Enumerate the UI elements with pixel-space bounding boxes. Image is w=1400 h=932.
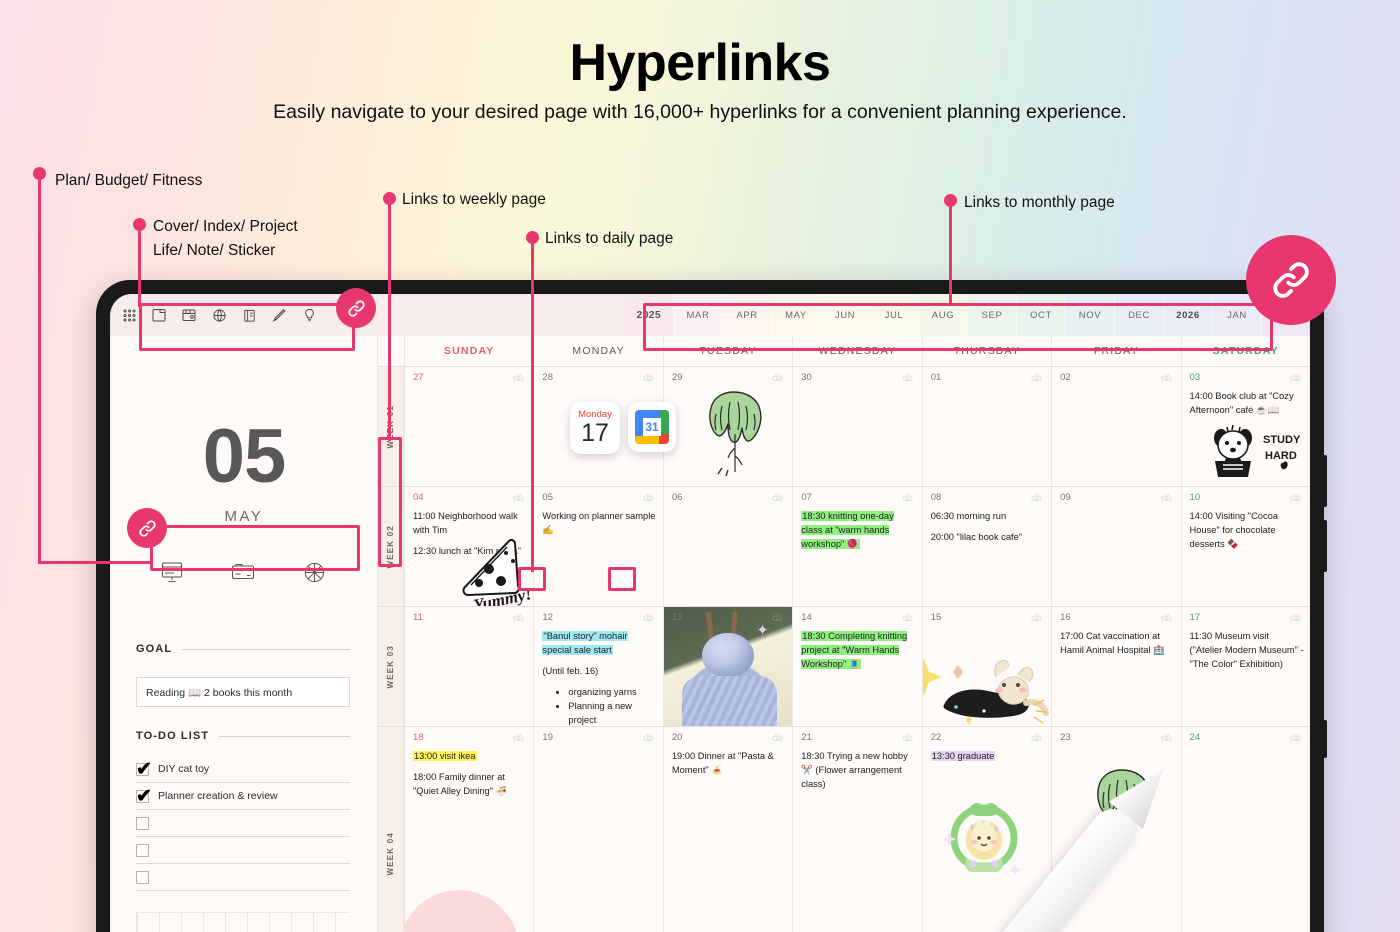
cloud-link-icon	[1289, 371, 1303, 385]
daily-page-link-icon[interactable]	[1289, 491, 1303, 505]
daily-page-link-icon[interactable]	[771, 731, 785, 745]
tablet-device: 2025 MARAPRMAYJUNJULAUGSEPOCTNOVDEC2026J…	[96, 280, 1324, 932]
monthly-calendar: SUNDAYMONDAYTUESDAYWEDNESDAYTHURSDAYFRID…	[378, 336, 1310, 932]
daily-page-link-icon[interactable]	[642, 731, 656, 745]
cloud-link-icon	[1289, 731, 1303, 745]
calendar-day-cell[interactable]: 12"Banul story" mohair special sale star…	[533, 607, 662, 726]
goal-rule	[182, 649, 350, 650]
day-number: 14	[801, 612, 812, 623]
calendar-day-cell[interactable]: 01	[922, 367, 1051, 486]
willow-tree-icon	[692, 384, 778, 476]
cloud-link-icon	[512, 491, 526, 505]
daily-page-link-icon[interactable]	[1289, 371, 1303, 385]
calendar-day-cell[interactable]: 2118:30 Trying a new hobby ✂️ (Flower ar…	[792, 727, 921, 932]
event-text: 17:00 Cat vaccination at Hamil Animal Ho…	[1060, 629, 1174, 657]
todo-row[interactable]: ✔DIY cat toy	[136, 756, 350, 783]
event-text: 13:30 graduate	[931, 749, 1045, 763]
calendar-day-cell[interactable]: 1418:30 Completing knitting project at "…	[792, 607, 921, 726]
day-events: 17:00 Cat vaccination at Hamil Animal Ho…	[1060, 629, 1174, 664]
todo-list: ✔DIY cat toy✔Planner creation & review	[136, 756, 350, 891]
cloud-link-icon	[771, 491, 785, 505]
sleeping-cats-icon	[922, 645, 1051, 725]
event-text: Working on planner sample ✍️	[542, 509, 656, 537]
todo-row[interactable]	[136, 837, 350, 864]
daily-page-link-icon[interactable]	[512, 491, 526, 505]
volume-button-up[interactable]	[1323, 455, 1327, 507]
apple-calendar-icon[interactable]: Monday 17	[570, 402, 620, 454]
calendar-week-row: WEEK 041813:00 visit ikea18:00 Family di…	[378, 726, 1310, 932]
daily-page-link-icon[interactable]	[1160, 731, 1174, 745]
event-text: 06:30 morning run	[931, 509, 1045, 523]
daily-page-link-icon[interactable]	[512, 611, 526, 625]
day-number: 09	[1060, 492, 1071, 503]
todo-checkbox[interactable]	[136, 817, 149, 830]
event-text: 18:00 Family dinner at "Quiet Alley Dini…	[413, 770, 527, 798]
day-events: 18:30 Completing knitting project at "Wa…	[801, 629, 915, 678]
cloud-link-icon	[1030, 731, 1044, 745]
cloud-link-icon	[642, 611, 656, 625]
cloud-link-icon	[1030, 611, 1044, 625]
goal-heading: GOAL	[136, 643, 350, 655]
event-bullet-list: organizing yarnsPlanning a new project	[568, 685, 656, 726]
highlight-box-month-nav	[643, 303, 1273, 351]
svg-text:HARD: HARD	[1265, 450, 1297, 462]
day-number: 20	[672, 732, 683, 743]
volume-button-down[interactable]	[1323, 520, 1327, 572]
annotation-line-plan-budget-fitness-v	[38, 178, 41, 563]
day-number: 05	[542, 492, 553, 503]
dog-reading-icon: STUDYHARD	[1207, 421, 1307, 483]
event-text: (Until feb. 16)	[542, 664, 656, 678]
day-number: 04	[413, 492, 424, 503]
day-events: 13:30 graduate	[931, 749, 1045, 770]
dog-study-hard-sticker: STUDYHARD	[1207, 421, 1307, 486]
daily-page-link-icon[interactable]	[1160, 371, 1174, 385]
event-highlight: 18:30 Completing knitting project at "Wa…	[801, 631, 907, 669]
cloud-link-icon	[642, 371, 656, 385]
event-text: 19:00 Dinner at "Pasta & Moment" 🍝	[672, 749, 786, 777]
power-button[interactable]	[1323, 720, 1327, 758]
todo-row[interactable]	[136, 810, 350, 837]
daily-page-link-icon[interactable]	[642, 611, 656, 625]
google-calendar-icon[interactable]: 31	[628, 402, 676, 452]
cloud-link-icon	[1160, 491, 1174, 505]
calendar-day-cell[interactable]: 06	[663, 487, 792, 606]
calendar-day-cell[interactable]: 24	[1181, 727, 1310, 932]
daily-page-link-icon[interactable]	[771, 371, 785, 385]
day-number: 10	[1190, 492, 1201, 503]
poster-canvas: Hyperlinks Easily navigate to your desir…	[0, 0, 1400, 932]
daily-page-link-icon[interactable]	[512, 371, 526, 385]
calendar-day-cell[interactable]: 19	[533, 727, 662, 932]
week-label-text: WEEK 04	[386, 832, 395, 876]
daily-page-link-icon[interactable]	[901, 731, 915, 745]
goal-input[interactable]: Reading 📖 2 books this month	[136, 677, 350, 707]
daily-page-link-icon[interactable]	[771, 491, 785, 505]
week-label-text: WEEK 03	[386, 645, 395, 689]
day-events: 11:30 Museum visit ("Atelier Modern Muse…	[1190, 629, 1304, 678]
annotation-label-life-note-sticker: Life/ Note/ Sticker	[153, 240, 275, 262]
sparkle-icon: ✦	[756, 621, 769, 639]
day-number: 28	[542, 372, 553, 383]
chain-link-icon	[137, 518, 158, 539]
day-number: 03	[1190, 372, 1201, 383]
calendar-day-cell[interactable]: 09	[1051, 487, 1180, 606]
day-events: 14:00 Visiting "Cocoa House" for chocola…	[1190, 509, 1304, 558]
calendar-day-cell[interactable]: 11	[404, 607, 533, 726]
calendar-day-cell[interactable]: 30	[792, 367, 921, 486]
calendar-week-row: WEEK 012728293001020314:00 Book club at …	[378, 366, 1310, 486]
day-number: 16	[1060, 612, 1071, 623]
calendar-day-cell[interactable]: 15	[922, 607, 1051, 726]
day-number: 13	[672, 612, 683, 623]
cloud-link-icon	[642, 731, 656, 745]
annotation-line-links-weekly	[388, 203, 391, 441]
todo-row[interactable]: ✔Planner creation & review	[136, 783, 350, 810]
link-badge-large	[1246, 235, 1336, 325]
daily-page-link-icon[interactable]	[642, 371, 656, 385]
todo-heading-text: TO-DO LIST	[136, 730, 209, 742]
calendar-day-cell[interactable]: 1014:00 Visiting "Cocoa House" for choco…	[1181, 487, 1310, 606]
annotation-dot-plan-budget-fitness	[33, 167, 46, 180]
cloud-link-icon	[771, 611, 785, 625]
annotation-dot-cover-index-project	[133, 218, 146, 231]
cloud-link-icon	[512, 371, 526, 385]
todo-checkbox[interactable]: ✔	[136, 790, 149, 803]
annotation-label-links-weekly: Links to weekly page	[402, 189, 546, 211]
google-calendar-date: 31	[643, 418, 661, 436]
event-text: 11:00 Neighborhood walk with Tim	[413, 509, 527, 537]
page-subtitle: Easily navigate to your desired page wit…	[0, 101, 1400, 124]
week-link-3[interactable]: WEEK 03	[378, 607, 404, 726]
cloud-link-icon	[901, 611, 915, 625]
daily-page-link-icon[interactable]	[1030, 611, 1044, 625]
event-text: 13:00 visit ikea	[413, 749, 527, 763]
tablet-screen: 2025 MARAPRMAYJUNJULAUGSEPOCTNOVDEC2026J…	[110, 294, 1310, 932]
event-text: 18:30 Completing knitting project at "Wa…	[801, 629, 915, 671]
daily-page-link-icon[interactable]	[771, 611, 785, 625]
cloud-link-icon	[901, 731, 915, 745]
event-highlight: "Banul story" mohair special sale start	[542, 631, 627, 655]
day-number: 27	[413, 372, 424, 383]
calendar-day-cell[interactable]: 27	[404, 367, 533, 486]
checkmark-icon: ✔	[136, 787, 152, 806]
knitted-fabric	[682, 676, 777, 726]
event-bullet: organizing yarns	[568, 685, 656, 699]
page-title: Hyperlinks	[0, 33, 1400, 93]
cloud-link-icon	[1160, 611, 1174, 625]
event-highlight: 18:30 knitting one-day class at "warm ha…	[801, 511, 894, 549]
event-bullet: Planning a new project	[568, 699, 656, 726]
event-text: 20:00 "lilac book cafe"	[931, 530, 1045, 544]
cloud-link-icon	[1160, 731, 1174, 745]
day-number: 21	[801, 732, 812, 743]
day-number: 23	[1060, 732, 1071, 743]
cats-sticker	[922, 645, 1051, 726]
calendar-day-cell[interactable]: 0718:30 knitting one-day class at "warm …	[792, 487, 921, 606]
day-number: 29	[672, 372, 683, 383]
google-calendar-tile: 31	[635, 410, 669, 444]
annotation-line-links-monthly	[949, 205, 952, 305]
daily-page-link-icon[interactable]	[901, 611, 915, 625]
annotation-dot-links-daily	[526, 231, 539, 244]
event-text: 12:30 lunch at "Kim pizza"	[413, 544, 527, 558]
cloud-link-icon	[771, 731, 785, 745]
monthly-side-panel: 05 MAY	[110, 336, 378, 932]
day-events: 18:30 knitting one-day class at "warm ha…	[801, 509, 915, 558]
calendar-day-cell[interactable]: 0314:00 Book club at "Cozy Afternoon" ca…	[1181, 367, 1310, 486]
cloud-link-icon	[901, 491, 915, 505]
calendar-day-cell[interactable]: ✦13	[663, 607, 792, 726]
day-number: 17	[1190, 612, 1201, 623]
cloud-link-icon	[1030, 491, 1044, 505]
checkmark-icon: ✔	[136, 760, 152, 779]
day-number: 02	[1060, 372, 1071, 383]
highlight-box-toolbar	[139, 303, 355, 351]
calendar-day-cell[interactable]: 02	[1051, 367, 1180, 486]
day-events: 18:30 Trying a new hobby ✂️ (Flower arra…	[801, 749, 915, 798]
daily-page-link-icon[interactable]	[642, 491, 656, 505]
day-number: 19	[542, 732, 553, 743]
calendar-day-cell[interactable]: 1711:30 Museum visit ("Atelier Modern Mu…	[1181, 607, 1310, 726]
daily-page-link-icon[interactable]	[1160, 611, 1174, 625]
todo-label: DIY cat toy	[158, 763, 209, 775]
yarn-ball	[702, 633, 753, 678]
day-number: 08	[931, 492, 942, 503]
day-number: 30	[801, 372, 812, 383]
chain-link-icon	[1268, 257, 1314, 303]
todo-checkbox[interactable]: ✔	[136, 763, 149, 776]
cloud-link-icon	[1030, 371, 1044, 385]
cloud-link-icon	[1289, 491, 1303, 505]
event-text: 14:00 Book club at "Cozy Afternoon" café…	[1190, 389, 1304, 417]
day-events: Working on planner sample ✍️	[542, 509, 656, 544]
calendar-day-cell[interactable]: 2019:00 Dinner at "Pasta & Moment" 🍝	[663, 727, 792, 932]
day-events: "Banul story" mohair special sale start(…	[542, 629, 656, 726]
annotation-line-plan-budget-fitness-h	[38, 561, 150, 564]
daily-page-link-icon[interactable]	[1030, 731, 1044, 745]
todo-heading: TO-DO LIST	[136, 730, 350, 742]
cloud-link-icon	[771, 371, 785, 385]
daily-page-link-icon[interactable]	[512, 731, 526, 745]
cloud-link-icon	[512, 731, 526, 745]
calendar-day-cell[interactable]: 0411:00 Neighborhood walk with Tim12:30 …	[404, 487, 533, 606]
annotation-line-links-daily	[531, 242, 534, 572]
highlight-box-quick-links	[150, 525, 360, 571]
goal-value: Reading 📖 2 books this month	[146, 686, 292, 699]
cloud-link-icon	[642, 491, 656, 505]
month-number: 05	[110, 420, 378, 494]
daily-page-link-icon[interactable]	[901, 371, 915, 385]
annotation-label-cover-index-project: Cover/ Index/ Project	[153, 216, 298, 238]
annotation-line-cover-index-project	[138, 229, 141, 307]
todo-checkbox[interactable]	[136, 871, 149, 884]
todo-checkbox[interactable]	[136, 844, 149, 857]
todo-rule	[219, 736, 350, 737]
daily-page-link-icon[interactable]	[1030, 371, 1044, 385]
calendar-day-cell[interactable]: 05Working on planner sample ✍️	[533, 487, 662, 606]
week-link-4[interactable]: WEEK 04	[378, 727, 404, 932]
daily-page-link-icon[interactable]	[1160, 491, 1174, 505]
day-number: 01	[931, 372, 942, 383]
event-text: 11:30 Museum visit ("Atelier Modern Muse…	[1190, 629, 1304, 671]
day-number: 18	[413, 732, 424, 743]
girl-wreath-sticker	[941, 788, 1027, 885]
cloud-link-icon	[1289, 611, 1303, 625]
day-events: 06:30 morning run20:00 "lilac book cafe"	[931, 509, 1045, 551]
cloud-link-icon	[901, 371, 915, 385]
daily-page-link-icon[interactable]	[1289, 611, 1303, 625]
note-grid-area[interactable]	[136, 912, 350, 932]
annotation-dot-links-weekly	[383, 192, 396, 205]
event-highlight: 13:00 visit ikea	[413, 751, 477, 761]
highlight-box-week-column	[378, 437, 402, 567]
weekday-header-sunday: SUNDAY	[404, 336, 533, 366]
daily-page-link-icon[interactable]	[1289, 731, 1303, 745]
event-text: "Banul story" mohair special sale start	[542, 629, 656, 657]
day-number: 22	[931, 732, 942, 743]
day-number: 07	[801, 492, 812, 503]
graduation-girl-icon	[941, 788, 1027, 880]
event-text: 14:00 Visiting "Cocoa House" for chocola…	[1190, 509, 1304, 551]
event-text: 18:30 Trying a new hobby ✂️ (Flower arra…	[801, 749, 915, 791]
cloud-link-icon	[512, 611, 526, 625]
day-number: 11	[413, 612, 423, 623]
calendar-day-cell[interactable]: 0806:30 morning run20:00 "lilac book caf…	[922, 487, 1051, 606]
chain-link-icon	[346, 298, 367, 319]
calendar-day-cell[interactable]: 29	[663, 367, 792, 486]
pink-blob-sticker	[404, 890, 519, 932]
todo-row[interactable]	[136, 864, 350, 891]
day-events: 14:00 Book club at "Cozy Afternoon" café…	[1190, 389, 1304, 424]
day-number: 24	[1190, 732, 1201, 743]
day-events: 13:00 visit ikea18:00 Family dinner at "…	[413, 749, 527, 805]
annotation-label-plan-budget-fitness: Plan/ Budget/ Fitness	[55, 170, 202, 192]
svg-text:STUDY: STUDY	[1263, 434, 1301, 446]
apple-calendar-date: 17	[581, 420, 609, 447]
day-number: 15	[931, 612, 942, 623]
annotation-dot-links-monthly	[944, 194, 957, 207]
event-text: 18:30 knitting one-day class at "warm ha…	[801, 509, 915, 551]
daily-page-link-icon[interactable]	[1030, 491, 1044, 505]
cloud-link-icon	[1160, 371, 1174, 385]
goal-heading-text: GOAL	[136, 643, 172, 655]
todo-label: Planner creation & review	[158, 790, 278, 802]
link-badge-quicklinks	[127, 508, 167, 548]
calendar-day-cell[interactable]: 1813:00 visit ikea18:00 Family dinner at…	[404, 727, 533, 932]
week-column-spacer	[378, 336, 404, 366]
calendar-week-row: WEEK 031112"Banul story" mohair special …	[378, 606, 1310, 726]
calendar-day-cell[interactable]: 1617:00 Cat vaccination at Hamil Animal …	[1051, 607, 1180, 726]
annotation-label-links-monthly: Links to monthly page	[964, 192, 1115, 214]
highlight-box-daily-link-cell	[608, 567, 636, 591]
event-highlight: 13:30 graduate	[931, 751, 996, 761]
day-number: 06	[672, 492, 683, 503]
day-number: 12	[542, 612, 553, 623]
day-events: 19:00 Dinner at "Pasta & Moment" 🍝	[672, 749, 786, 784]
link-badge-toolbar	[336, 288, 376, 328]
willow-tree-sticker	[692, 384, 778, 481]
daily-page-link-icon[interactable]	[901, 491, 915, 505]
day-events: 11:00 Neighborhood walk with Tim12:30 lu…	[413, 509, 527, 565]
annotation-label-links-daily: Links to daily page	[545, 228, 673, 250]
